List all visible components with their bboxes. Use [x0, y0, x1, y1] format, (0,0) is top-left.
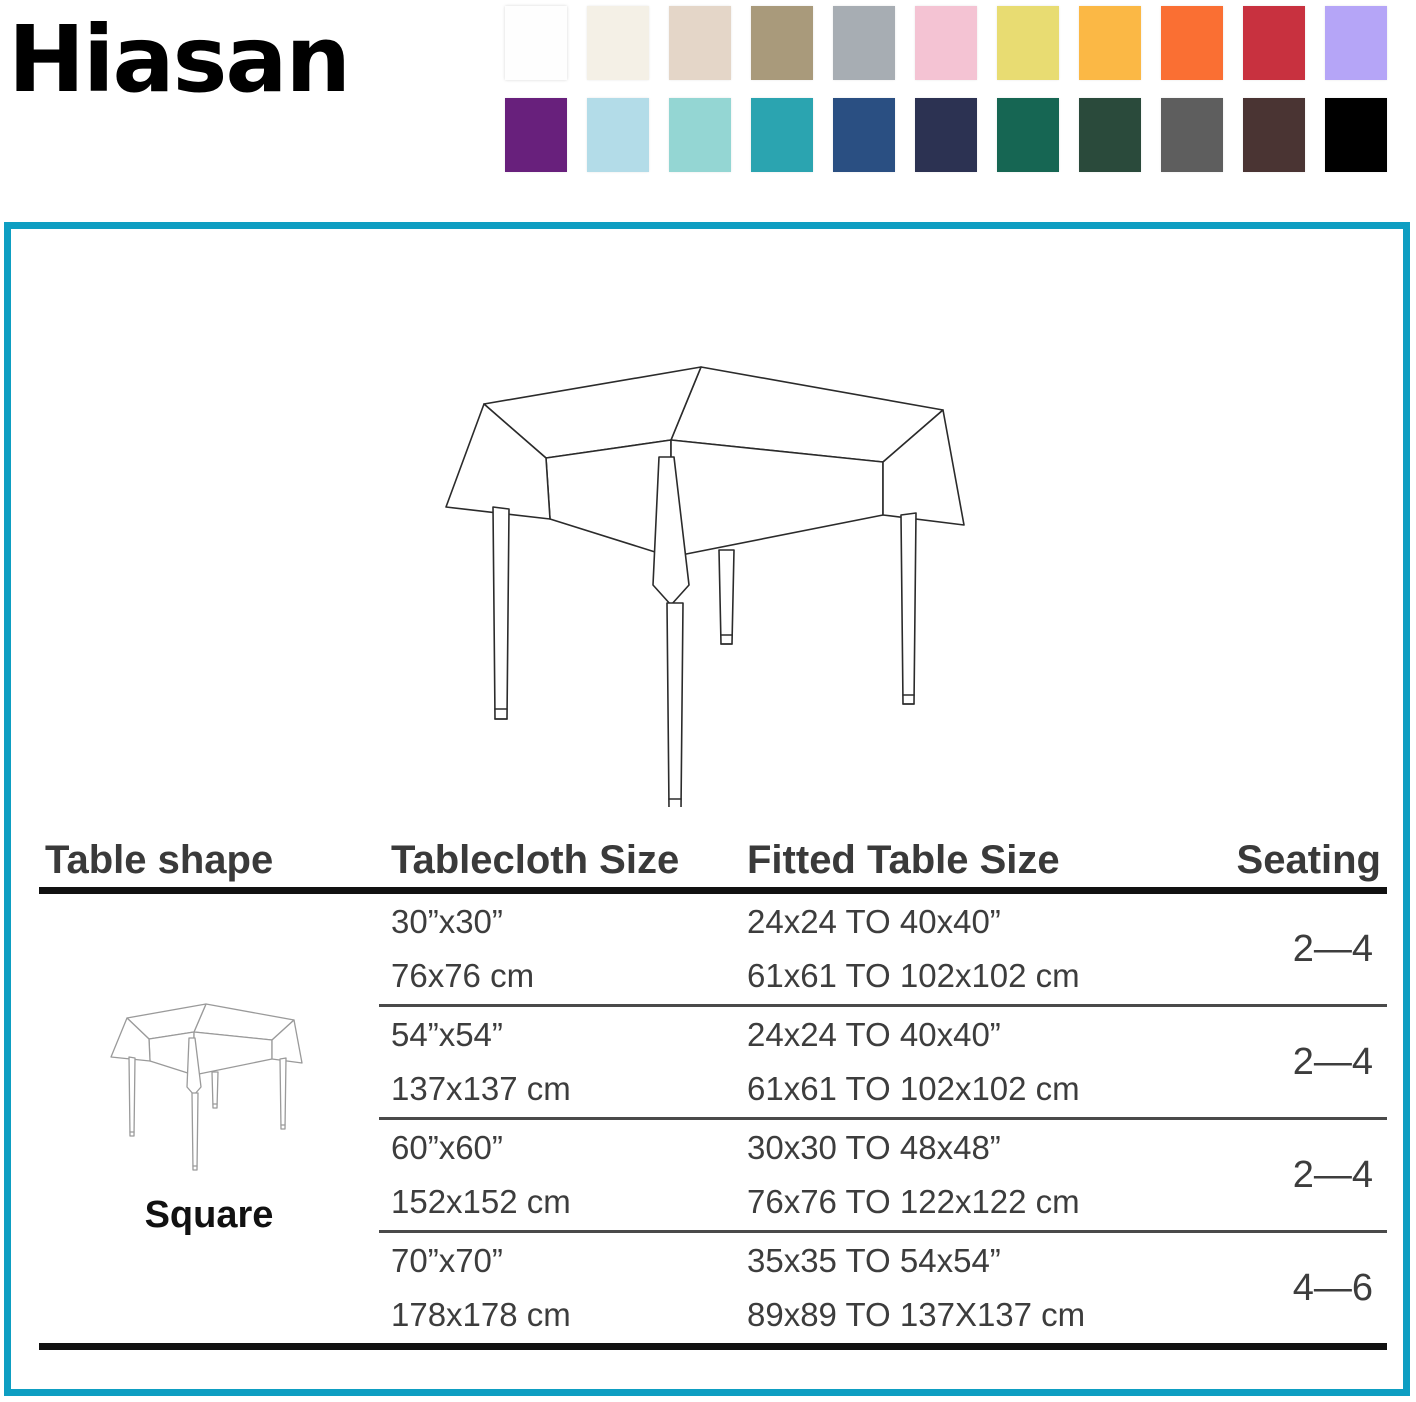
size-table: Table shape Tablecloth Size Fitted Table… [39, 817, 1387, 1350]
cell-fitted-table-size: 24x24 TO 40x40” 61x61 TO 102x102 cm [739, 903, 1209, 995]
color-swatch-red[interactable] [1243, 6, 1305, 80]
color-swatch-navy[interactable] [915, 98, 977, 172]
color-swatch-ivory[interactable] [587, 6, 649, 80]
color-swatch-orange[interactable] [1161, 6, 1223, 80]
color-swatch-beige[interactable] [669, 6, 731, 80]
table-body: Square 30”x30” 76x76 cm 24x24 TO 40x40” … [39, 894, 1387, 1343]
table-shape-cell: Square [39, 894, 379, 1334]
fitted-size-inches: 35x35 TO 54x54” [747, 1242, 1209, 1280]
cell-seating: 4—6 [1209, 1267, 1387, 1310]
cloth-size-inches: 30”x30” [391, 903, 739, 941]
size-chart-page: Hiasan [0, 0, 1416, 1402]
color-swatch-purple[interactable] [505, 98, 567, 172]
fitted-size-cm: 61x61 TO 102x102 cm [747, 1070, 1209, 1108]
cell-fitted-table-size: 24x24 TO 40x40” 61x61 TO 102x102 cm [739, 1016, 1209, 1108]
cell-tablecloth-size: 60”x60” 152x152 cm [379, 1129, 739, 1221]
cloth-size-cm: 178x178 cm [391, 1296, 739, 1334]
fitted-size-cm: 76x76 TO 122x122 cm [747, 1183, 1209, 1221]
column-header-seating: Seating [1209, 838, 1387, 883]
cell-tablecloth-size: 70”x70” 178x178 cm [379, 1242, 739, 1334]
cell-tablecloth-size: 54”x54” 137x137 cm [379, 1016, 739, 1108]
color-swatch-light-blue[interactable] [587, 98, 649, 172]
cell-fitted-table-size: 30x30 TO 48x48” 76x76 TO 122x122 cm [739, 1129, 1209, 1221]
column-header-fitted-size: Fitted Table Size [739, 838, 1209, 883]
color-swatch-pink[interactable] [915, 6, 977, 80]
cell-fitted-table-size: 35x35 TO 54x54” 89x89 TO 137X137 cm [739, 1242, 1209, 1334]
fitted-size-inches: 24x24 TO 40x40” [747, 903, 1209, 941]
color-swatch-dark-gray[interactable] [1161, 98, 1223, 172]
color-swatch-emerald[interactable] [997, 98, 1059, 172]
fitted-size-inches: 30x30 TO 48x48” [747, 1129, 1209, 1167]
info-frame: Table shape Tablecloth Size Fitted Table… [4, 222, 1410, 1396]
cell-seating: 2—4 [1209, 1041, 1387, 1084]
cloth-size-cm: 152x152 cm [391, 1183, 739, 1221]
cell-seating: 2—4 [1209, 1154, 1387, 1197]
color-swatch-lavender[interactable] [1325, 6, 1387, 80]
square-table-illustration [431, 347, 991, 807]
cloth-size-cm: 76x76 cm [391, 957, 739, 995]
color-swatch-teal[interactable] [751, 98, 813, 172]
color-swatch-aqua[interactable] [669, 98, 731, 172]
cloth-size-inches: 70”x70” [391, 1242, 739, 1280]
brand-header: Hiasan [0, 0, 1416, 200]
table-shape-label: Square [145, 1194, 274, 1237]
fitted-size-cm: 61x61 TO 102x102 cm [747, 957, 1209, 995]
color-swatch-black[interactable] [1325, 98, 1387, 172]
table-header-rule [39, 887, 1387, 894]
color-swatch-forest-green[interactable] [1079, 98, 1141, 172]
column-header-tablecloth-size: Tablecloth Size [379, 838, 739, 883]
cloth-size-cm: 137x137 cm [391, 1070, 739, 1108]
color-swatch-gray[interactable] [833, 6, 895, 80]
color-swatch-palette [505, 6, 1410, 190]
cell-seating: 2—4 [1209, 928, 1387, 971]
cell-tablecloth-size: 30”x30” 76x76 cm [379, 903, 739, 995]
table-header-row: Table shape Tablecloth Size Fitted Table… [39, 817, 1387, 887]
cloth-size-inches: 54”x54” [391, 1016, 739, 1054]
fitted-size-cm: 89x89 TO 137X137 cm [747, 1296, 1209, 1334]
brand-logo: Hiasan [8, 14, 349, 106]
swatch-row-top [505, 6, 1410, 90]
color-swatch-yellow[interactable] [997, 6, 1059, 80]
fitted-size-inches: 24x24 TO 40x40” [747, 1016, 1209, 1054]
color-swatch-royal-blue[interactable] [833, 98, 895, 172]
swatch-row-bottom [505, 98, 1410, 182]
square-table-icon [104, 992, 314, 1182]
color-swatch-amber[interactable] [1079, 6, 1141, 80]
column-header-table-shape: Table shape [39, 838, 379, 883]
table-bottom-rule [39, 1343, 1387, 1350]
color-swatch-white[interactable] [505, 6, 567, 80]
color-swatch-dark-brown[interactable] [1243, 98, 1305, 172]
cloth-size-inches: 60”x60” [391, 1129, 739, 1167]
color-swatch-taupe[interactable] [751, 6, 813, 80]
